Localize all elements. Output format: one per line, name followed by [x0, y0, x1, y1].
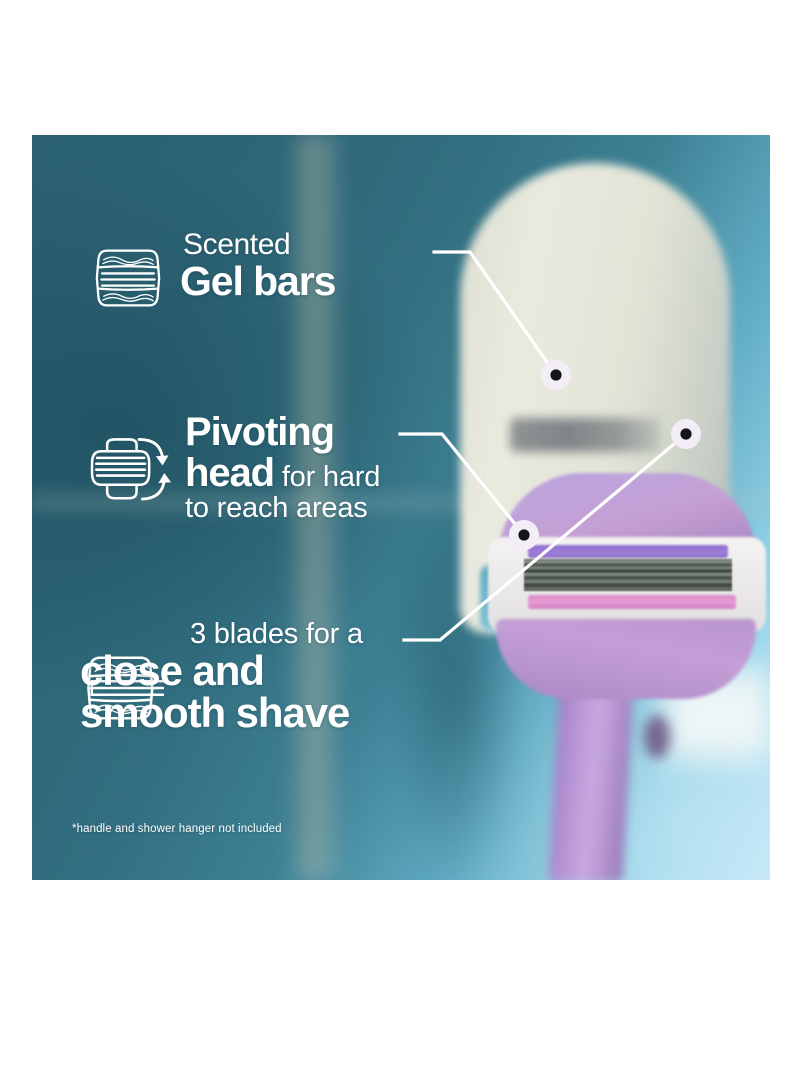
callout-dots — [509, 360, 701, 550]
gel-bar-icon — [90, 240, 166, 316]
callout-line-blades — [404, 434, 686, 640]
callout-line-gel-bars — [434, 252, 556, 375]
feature-blades-line-3: smooth shave — [80, 692, 363, 735]
rotate-arrow-up — [158, 473, 171, 483]
screenshot-root: Scented Gel bars — [0, 0, 800, 1091]
callout-line-pivot-head — [400, 434, 524, 535]
feature-blades-line-1: 3 blades for a — [190, 620, 363, 650]
feature-pivot-line-2: head for hard — [185, 453, 380, 494]
feature-pivot-for-hard: for hard — [274, 461, 380, 493]
disclaimer-text: *handle and shower hanger not included — [72, 823, 282, 835]
feature-gel-text: Scented Gel bars — [180, 230, 335, 302]
callout-dot-blades-center — [680, 428, 691, 439]
rotate-arrow-down — [156, 455, 169, 465]
feature-blades-text: 3 blades for a close and smooth shave — [80, 620, 363, 735]
feature-pivoting-head: Pivoting head for hard to reach areas — [87, 412, 380, 523]
product-infographic-panel: Scented Gel bars — [32, 135, 770, 880]
feature-gel-line-2: Gel bars — [180, 261, 335, 303]
feature-pivot-head-word: head — [185, 451, 274, 495]
callout-dot-pivot-head-center — [518, 529, 529, 540]
feature-pivot-line-3: to reach areas — [185, 494, 380, 524]
callout-dot-gel-bars-center — [550, 369, 561, 380]
feature-pivot-line-1: Pivoting — [185, 412, 380, 453]
feature-three-blades: 3 blades for a close and smooth shave — [80, 620, 363, 735]
pivoting-head-icon — [87, 426, 171, 510]
feature-scented-gel-bars: Scented Gel bars — [90, 230, 335, 316]
feature-blades-line-2: close and — [80, 650, 363, 693]
feature-gel-line-1: Scented — [183, 230, 335, 261]
feature-pivot-text: Pivoting head for hard to reach areas — [185, 412, 380, 523]
